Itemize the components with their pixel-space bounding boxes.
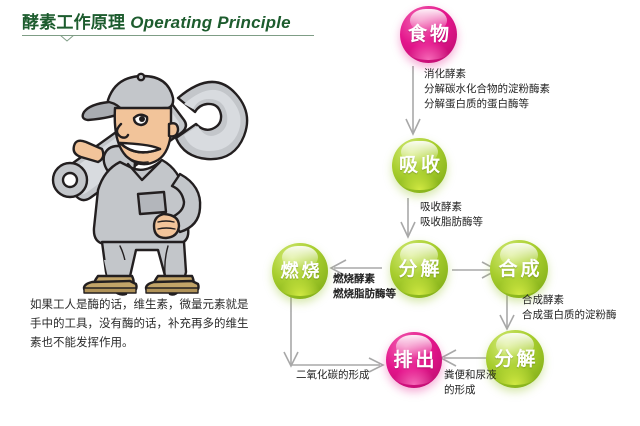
annotation-line: 吸收酵素 — [420, 200, 483, 215]
annotation-feces-urine-formation: 粪便和尿液 的形成 — [444, 368, 497, 398]
annotation-line: 燃烧酵素 — [333, 272, 396, 287]
node-burning[interactable]: 燃烧 — [272, 243, 328, 299]
annotation-line: 消化酵素 — [424, 67, 550, 82]
annotation-line: 分解碳水化合物的淀粉酶素 — [424, 82, 550, 97]
arrow-decomposition2-to-excretion — [441, 350, 490, 366]
node-excretion[interactable]: 排出 — [386, 332, 442, 388]
node-absorption-label: 吸收 — [396, 156, 443, 175]
arrow-food-to-absorption — [406, 66, 420, 134]
flow-arrows-layer — [0, 0, 640, 426]
annotation-line: 燃烧脂肪酶等 — [333, 287, 396, 302]
node-food-label: 食物 — [405, 25, 452, 44]
node-synthesis-label: 合成 — [495, 260, 542, 279]
poster-canvas: 酵素工作原理Operating Principle — [0, 0, 640, 426]
annotation-burning-enzymes: 燃烧酵素 燃烧脂肪酶等 — [333, 272, 396, 302]
node-food[interactable]: 食物 — [400, 6, 457, 63]
node-burning-label: 燃烧 — [278, 262, 323, 280]
node-decomposition-label: 分解 — [395, 260, 442, 279]
annotation-co2-formation: 二氧化碳的形成 — [296, 368, 370, 383]
enzyme-flow-diagram: 食物 吸收 燃烧 分解 合成 排出 分解 消化酵素 分解碳水化合物的淀粉酶素 分… — [0, 0, 640, 426]
annotation-line: 吸收脂肪酶等 — [420, 215, 483, 230]
arrow-burning-to-excretion — [284, 296, 383, 372]
annotation-line: 合成蛋白质的淀粉酶 — [522, 308, 617, 323]
node-synthesis[interactable]: 合成 — [490, 240, 548, 298]
annotation-line: 的形成 — [444, 383, 497, 398]
node-decomposition-2-label: 分解 — [491, 350, 538, 369]
node-decomposition-2[interactable]: 分解 — [486, 330, 544, 388]
node-decomposition[interactable]: 分解 — [390, 240, 448, 298]
annotation-line: 二氧化碳的形成 — [296, 368, 370, 383]
annotation-line: 合成酵素 — [522, 293, 617, 308]
arrow-absorption-to-decomposition — [401, 198, 415, 237]
annotation-line: 分解蛋白质的蛋白酶等 — [424, 97, 550, 112]
arrow-synthesis-to-decomposition2 — [500, 294, 514, 329]
annotation-absorption-enzymes: 吸收酵素 吸收脂肪酶等 — [420, 200, 483, 230]
annotation-synthesis-enzymes: 合成酵素 合成蛋白质的淀粉酶 — [522, 293, 617, 323]
node-absorption[interactable]: 吸收 — [392, 138, 447, 193]
annotation-digestive-enzymes: 消化酵素 分解碳水化合物的淀粉酶素 分解蛋白质的蛋白酶等 — [424, 67, 550, 112]
node-excretion-label: 排出 — [390, 351, 437, 370]
annotation-line: 粪便和尿液 — [444, 368, 497, 383]
